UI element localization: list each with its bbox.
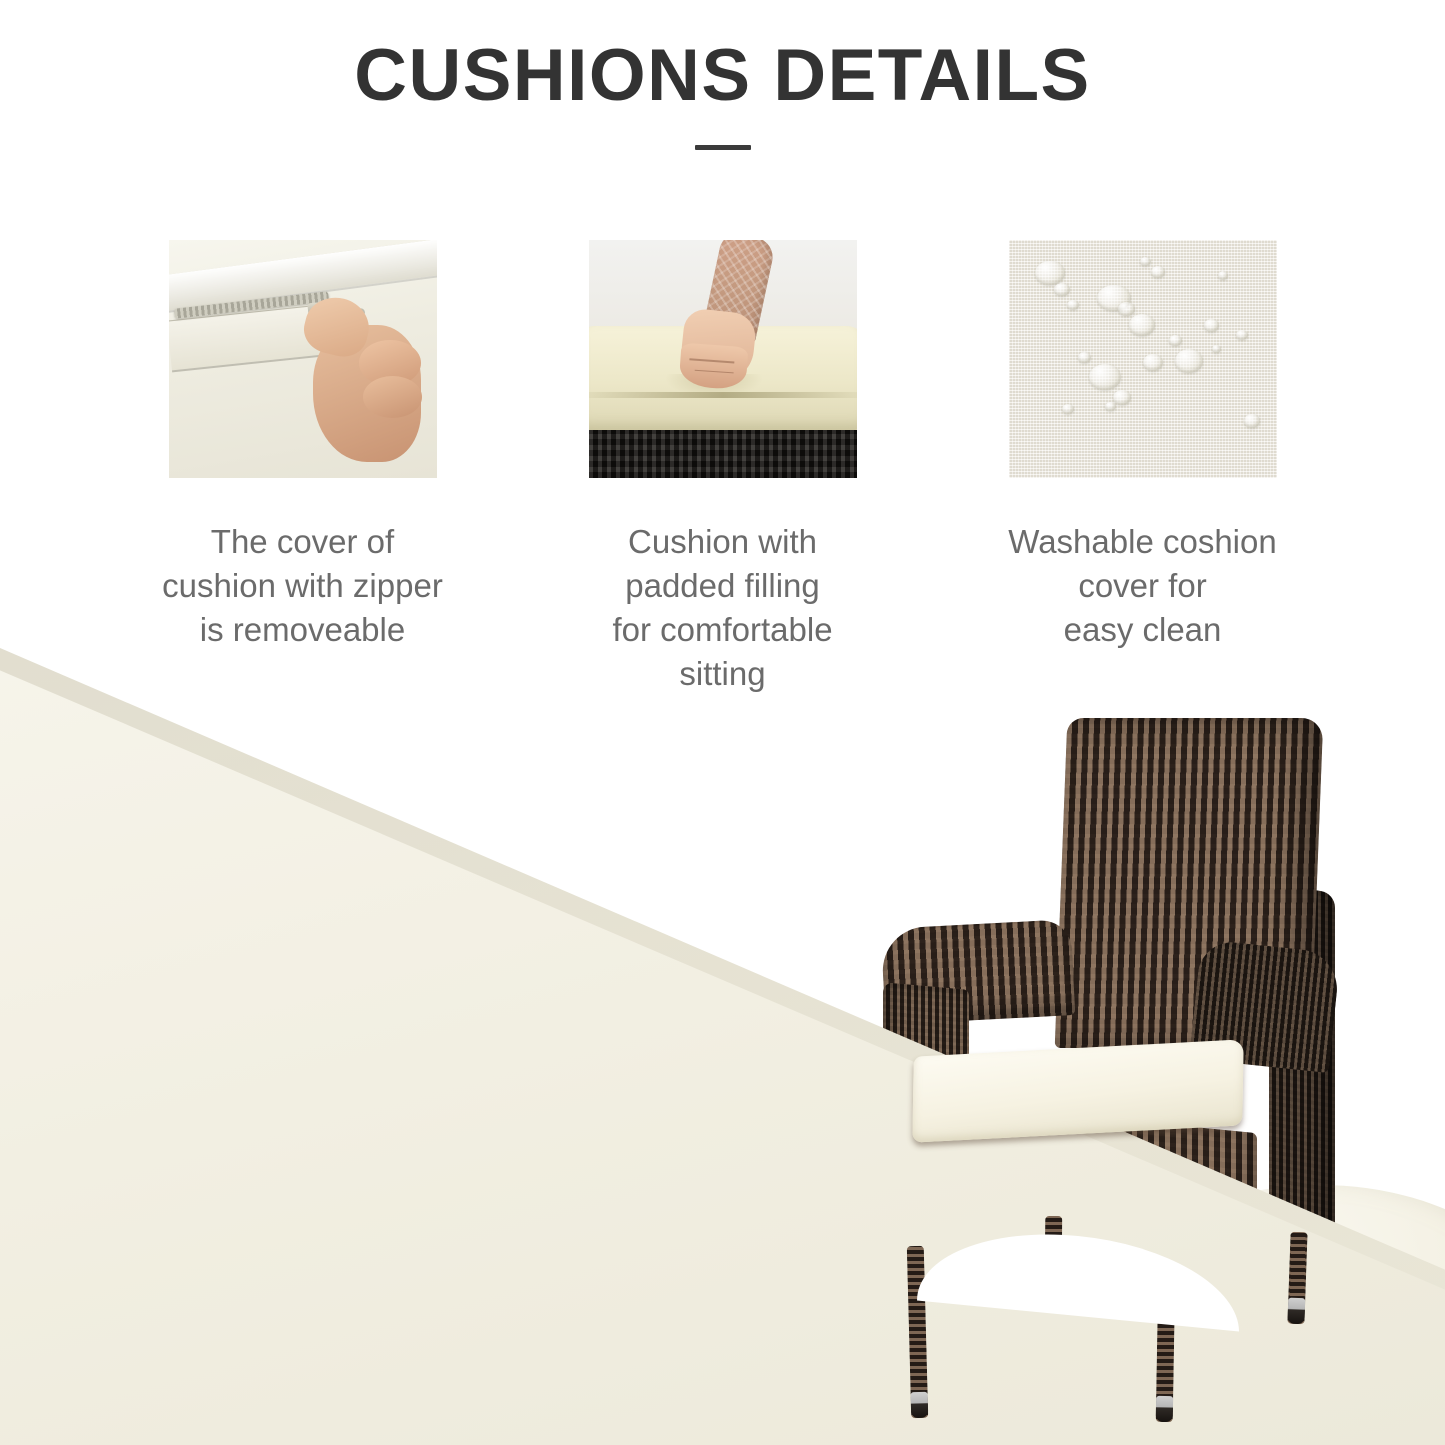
chair-leg-back-right: [1287, 1232, 1307, 1325]
water-droplet-icon: [1151, 266, 1165, 278]
water-droplet-icon: [1244, 414, 1260, 428]
water-droplet-icon: [1212, 345, 1221, 353]
chair-seat-cushion: [912, 1039, 1243, 1142]
leg-foot-cap: [1287, 1298, 1305, 1325]
leg-foot-cap: [911, 1392, 929, 1418]
page-title: CUSHIONS DETAILS: [0, 38, 1445, 115]
title-divider: [695, 145, 751, 150]
water-droplet-icon: [1140, 257, 1151, 266]
finger-separation-line: [694, 369, 733, 373]
water-droplet-icon: [1078, 352, 1091, 363]
dark-wicker-base: [589, 430, 857, 478]
hand-knuckle-lower: [363, 376, 422, 418]
feature-caption: The cover of cushion with zipper is remo…: [138, 520, 468, 652]
feature-item-washable-cover: Washable coshion cover for easy clean: [933, 240, 1353, 696]
product-infographic-page: CUSHIONS DETAILS The cover of cushion: [0, 0, 1445, 1445]
water-droplet-icon: [1067, 300, 1079, 310]
water-droplet-icon: [1054, 283, 1070, 296]
feature-item-padded-filling: Cushion with padded filling for comforta…: [513, 240, 933, 696]
water-droplet-icon: [1105, 402, 1116, 411]
water-repellent-fabric-photo: [1009, 240, 1277, 478]
feature-caption: Washable coshion cover for easy clean: [978, 520, 1308, 652]
zipper-cushion-photo: [169, 240, 437, 478]
water-droplet-icon: [1089, 364, 1121, 390]
water-droplet-icon: [1143, 354, 1163, 371]
feature-item-zipper-cover: The cover of cushion with zipper is remo…: [93, 240, 513, 696]
hand-graphic: [303, 283, 432, 473]
feature-row: The cover of cushion with zipper is remo…: [0, 240, 1445, 696]
water-droplet-icon: [1204, 319, 1219, 332]
header: CUSHIONS DETAILS: [0, 0, 1445, 150]
water-droplet-icon: [1218, 271, 1228, 280]
water-droplet-icon: [1129, 314, 1155, 336]
padded-cushion-photo: [589, 240, 857, 478]
leg-foot-cap: [1156, 1396, 1173, 1422]
water-droplet-icon: [1113, 390, 1131, 405]
finger-separation-line: [689, 358, 733, 363]
feature-caption: Cushion with padded filling for comforta…: [558, 520, 888, 696]
